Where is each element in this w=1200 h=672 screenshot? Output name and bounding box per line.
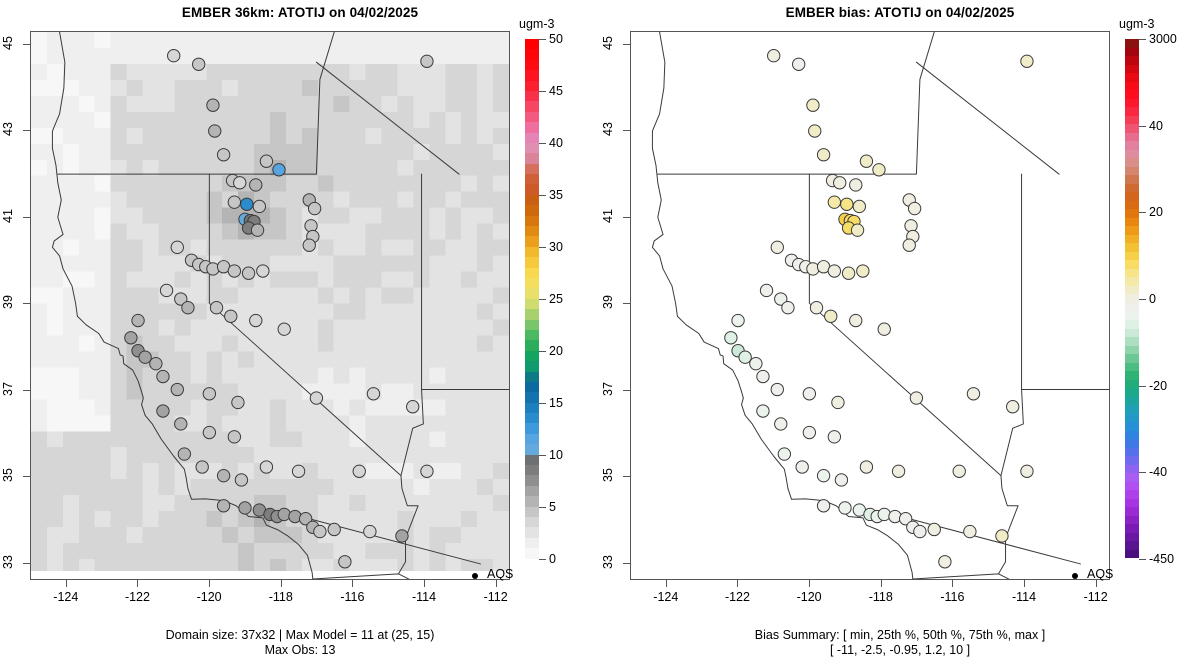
aqs-site-marker[interactable] bbox=[396, 530, 408, 542]
x-axis-tick bbox=[496, 580, 497, 587]
aqs-site-marker[interactable] bbox=[834, 177, 846, 189]
colorbar-tick bbox=[1139, 299, 1146, 300]
aqs-site-marker[interactable] bbox=[257, 265, 269, 277]
colorbar-tick-label: 40 bbox=[549, 136, 563, 150]
y-axis-tick-label: 35 bbox=[601, 463, 615, 487]
y-axis-tick bbox=[23, 563, 30, 564]
colorbar-tick bbox=[1139, 126, 1146, 127]
aqs-site-marker[interactable] bbox=[768, 50, 780, 62]
colorbar-gradient bbox=[1125, 39, 1139, 559]
aqs-site-marker[interactable] bbox=[310, 392, 322, 404]
colorbar-tick bbox=[539, 91, 546, 92]
aqs-site-marker[interactable] bbox=[953, 465, 965, 477]
aqs-site-marker[interactable] bbox=[407, 401, 419, 413]
y-axis-tick bbox=[23, 217, 30, 218]
aqs-site-marker[interactable] bbox=[178, 448, 190, 460]
x-axis-tick-label: -122 bbox=[125, 590, 150, 604]
aqs-site-marker[interactable] bbox=[841, 198, 853, 210]
aqs-site-marker[interactable] bbox=[228, 431, 240, 443]
aqs-site-marker[interactable] bbox=[914, 525, 926, 537]
aqs-site-marker[interactable] bbox=[757, 405, 769, 417]
aqs-site-marker[interactable] bbox=[160, 284, 172, 296]
aqs-site-marker[interactable] bbox=[193, 58, 205, 70]
colorbar-tick-label: 25 bbox=[549, 292, 563, 306]
colorbar-tick-label: 20 bbox=[549, 344, 563, 358]
aqs-site-marker[interactable] bbox=[210, 302, 222, 314]
x-axis-tick bbox=[137, 580, 138, 587]
aqs-site-marker[interactable] bbox=[809, 125, 821, 137]
y-axis-tick-label: 33 bbox=[1, 550, 15, 574]
y-axis-tick bbox=[23, 476, 30, 477]
aqs-site-marker[interactable] bbox=[850, 179, 862, 191]
aqs-site-marker[interactable] bbox=[739, 351, 751, 363]
x-axis-tick bbox=[737, 580, 738, 587]
aqs-site-marker[interactable] bbox=[750, 358, 762, 370]
x-axis-tick bbox=[809, 580, 810, 587]
x-axis-tick-label: -122 bbox=[725, 590, 750, 604]
aqs-site-marker[interactable] bbox=[278, 508, 290, 520]
x-axis-tick bbox=[424, 580, 425, 587]
y-axis-tick bbox=[623, 303, 630, 304]
aqs-site-marker[interactable] bbox=[778, 448, 790, 460]
aqs-site-marker[interactable] bbox=[905, 220, 917, 232]
colorbar-tick bbox=[539, 299, 546, 300]
colorbar-tick bbox=[539, 559, 546, 560]
y-axis-tick bbox=[23, 390, 30, 391]
x-axis-tick bbox=[281, 580, 282, 587]
aqs-site-marker[interactable] bbox=[228, 196, 240, 208]
aqs-site-marker[interactable] bbox=[235, 474, 247, 486]
aqs-site-marker[interactable] bbox=[810, 302, 822, 314]
colorbar-tick-label: 30 bbox=[549, 240, 563, 254]
aqs-site-marker[interactable] bbox=[305, 220, 317, 232]
x-axis-tick-label: -120 bbox=[797, 590, 822, 604]
aqs-site-marker[interactable] bbox=[175, 418, 187, 430]
aqs-site-marker[interactable] bbox=[782, 302, 794, 314]
aqs-site-marker[interactable] bbox=[250, 314, 262, 326]
aqs-legend-right: AQS bbox=[1087, 567, 1113, 581]
y-axis-tick bbox=[23, 44, 30, 45]
colorbar-right-unit-label: ugm-3 bbox=[1119, 17, 1154, 31]
y-axis-tick bbox=[623, 390, 630, 391]
panel-bias: EMBER bias: ATOTIJ on 04/02/2025 AQS Bia… bbox=[600, 0, 1200, 672]
colorbar-gradient bbox=[525, 39, 539, 559]
aqs-site-marker[interactable] bbox=[757, 370, 769, 382]
aqs-site-marker[interactable] bbox=[225, 310, 237, 322]
aqs-site-marker[interactable] bbox=[908, 202, 920, 214]
aqs-site-marker[interactable] bbox=[292, 465, 304, 477]
x-axis-tick bbox=[66, 580, 67, 587]
aqs-site-marker[interactable] bbox=[339, 556, 351, 568]
colorbar-tick-label: 50 bbox=[549, 32, 563, 46]
aqs-site-marker[interactable] bbox=[860, 155, 872, 167]
aqs-site-marker[interactable] bbox=[817, 470, 829, 482]
aqs-site-marker[interactable] bbox=[182, 302, 194, 314]
aqs-site-marker[interactable] bbox=[239, 502, 251, 514]
y-axis-tick bbox=[23, 303, 30, 304]
aqs-marker-icon bbox=[472, 573, 478, 579]
colorbar-tick bbox=[1139, 472, 1146, 473]
x-axis-tick bbox=[1096, 580, 1097, 587]
aqs-site-marker[interactable] bbox=[1007, 401, 1019, 413]
aqs-site-marker[interactable] bbox=[1021, 55, 1033, 67]
aqs-site-marker[interactable] bbox=[207, 263, 219, 275]
aqs-site-marker[interactable] bbox=[775, 418, 787, 430]
colorbar-left-unit-label: ugm-3 bbox=[519, 17, 554, 31]
aqs-site-marker[interactable] bbox=[967, 388, 979, 400]
aqs-site-marker[interactable] bbox=[850, 314, 862, 326]
y-axis-tick-label: 41 bbox=[1, 204, 15, 228]
colorbar-tick-label: 0 bbox=[1149, 292, 1156, 306]
aqs-site-marker[interactable] bbox=[364, 525, 376, 537]
aqs-site-marker[interactable] bbox=[832, 396, 844, 408]
aqs-site-marker[interactable] bbox=[132, 314, 144, 326]
map-plot-bias bbox=[630, 31, 1110, 580]
y-axis-tick-label: 39 bbox=[1, 290, 15, 314]
y-axis-tick bbox=[623, 476, 630, 477]
aqs-site-marker[interactable] bbox=[150, 358, 162, 370]
x-axis-tick-label: -124 bbox=[53, 590, 78, 604]
aqs-site-marker[interactable] bbox=[939, 556, 951, 568]
aqs-site-marker[interactable] bbox=[828, 265, 840, 277]
aqs-site-marker[interactable] bbox=[171, 383, 183, 395]
aqs-site-marker[interactable] bbox=[251, 224, 263, 236]
y-axis-tick bbox=[23, 130, 30, 131]
y-axis-tick-label: 43 bbox=[601, 117, 615, 141]
colorbar-tick bbox=[539, 455, 546, 456]
y-axis-tick-label: 41 bbox=[601, 204, 615, 228]
aqs-site-marker[interactable] bbox=[203, 388, 215, 400]
aqs-site-marker[interactable] bbox=[209, 125, 221, 137]
aqs-site-marker[interactable] bbox=[328, 523, 340, 535]
panel-right-title: EMBER bias: ATOTIJ on 04/02/2025 bbox=[600, 5, 1200, 20]
aqs-site-marker[interactable] bbox=[171, 241, 183, 253]
y-axis-tick-label: 39 bbox=[601, 290, 615, 314]
y-axis-tick bbox=[623, 563, 630, 564]
x-axis-tick-label: -112 bbox=[1084, 590, 1108, 604]
colorbar-tick bbox=[1139, 386, 1146, 387]
colorbar-tick bbox=[539, 143, 546, 144]
y-axis-tick bbox=[623, 217, 630, 218]
aqs-site-marker[interactable] bbox=[828, 196, 840, 208]
aqs-site-marker[interactable] bbox=[308, 202, 320, 214]
aqs-site-marker[interactable] bbox=[367, 388, 379, 400]
aqs-site-marker[interactable] bbox=[157, 405, 169, 417]
aqs-site-marker[interactable] bbox=[889, 510, 901, 522]
aqs-site-marker[interactable] bbox=[803, 426, 815, 438]
aqs-legend-label: AQS bbox=[1087, 567, 1113, 581]
y-axis-tick-label: 45 bbox=[601, 31, 615, 55]
colorbar-tick bbox=[539, 507, 546, 508]
aqs-site-marker[interactable] bbox=[807, 263, 819, 275]
colorbar-tick-label: 10 bbox=[549, 448, 563, 462]
aqs-site-marker[interactable] bbox=[253, 200, 265, 212]
aqs-site-marker[interactable] bbox=[421, 465, 433, 477]
aqs-site-marker[interactable] bbox=[817, 500, 829, 512]
aqs-site-marker[interactable] bbox=[793, 58, 805, 70]
x-axis-tick-label: -114 bbox=[412, 590, 436, 604]
aqs-site-marker[interactable] bbox=[839, 502, 851, 514]
aqs-site-marker[interactable] bbox=[157, 370, 169, 382]
x-axis-tick-label: -118 bbox=[269, 590, 293, 604]
aqs-site-marker[interactable] bbox=[851, 224, 863, 236]
colorbar-tick bbox=[1139, 212, 1146, 213]
x-axis-tick-label: -114 bbox=[1012, 590, 1036, 604]
aqs-site-marker[interactable] bbox=[273, 164, 285, 176]
aqs-site-marker[interactable] bbox=[825, 310, 837, 322]
aqs-site-marker[interactable] bbox=[853, 200, 865, 212]
left-caption-line-1: Domain size: 37x32 | Max Model = 11 at (… bbox=[0, 628, 600, 643]
y-axis-tick-label: 35 bbox=[1, 463, 15, 487]
aqs-site-marker[interactable] bbox=[878, 323, 890, 335]
x-axis-tick bbox=[952, 580, 953, 587]
x-axis-tick-label: -118 bbox=[869, 590, 893, 604]
aqs-site-marker[interactable] bbox=[732, 314, 744, 326]
figure-root: EMBER 36km: ATOTIJ on 04/02/2025 AQS Dom… bbox=[0, 0, 1200, 672]
colorbar-tick-label: -20 bbox=[1149, 379, 1167, 393]
aqs-site-marker[interactable] bbox=[139, 351, 151, 363]
colorbar-tick-label: -40 bbox=[1149, 465, 1167, 479]
y-axis-tick-label: 45 bbox=[1, 31, 15, 55]
aqs-site-marker[interactable] bbox=[725, 332, 737, 344]
aqs-site-marker[interactable] bbox=[196, 461, 208, 473]
right-caption-line-2: [ -11, -2.5, -0.95, 1.2, 10 ] bbox=[600, 643, 1200, 658]
colorbar-tick bbox=[539, 403, 546, 404]
x-axis-tick bbox=[881, 580, 882, 587]
aqs-site-marker[interactable] bbox=[873, 164, 885, 176]
colorbar-tick-label: 3000 bbox=[1149, 32, 1177, 46]
aqs-observation-points[interactable] bbox=[31, 32, 509, 579]
aqs-site-marker[interactable] bbox=[842, 267, 854, 279]
aqs-site-marker[interactable] bbox=[828, 431, 840, 443]
x-axis-tick bbox=[352, 580, 353, 587]
y-axis-tick-label: 37 bbox=[601, 377, 615, 401]
x-axis-tick-label: -124 bbox=[653, 590, 678, 604]
colorbar-tick bbox=[539, 247, 546, 248]
colorbar-tick-label: 15 bbox=[549, 396, 563, 410]
bias-points[interactable] bbox=[631, 32, 1109, 579]
map-plot-model bbox=[30, 31, 510, 580]
aqs-site-marker[interactable] bbox=[168, 50, 180, 62]
aqs-site-marker[interactable] bbox=[353, 465, 365, 477]
aqs-site-marker[interactable] bbox=[771, 383, 783, 395]
aqs-site-marker[interactable] bbox=[242, 267, 254, 279]
aqs-site-marker[interactable] bbox=[928, 523, 940, 535]
colorbar-tick-label: 35 bbox=[549, 188, 563, 202]
panel-model: EMBER 36km: ATOTIJ on 04/02/2025 AQS Dom… bbox=[0, 0, 600, 672]
colorbar-tick-label: 5 bbox=[549, 500, 556, 514]
aqs-site-marker[interactable] bbox=[232, 396, 244, 408]
panel-left-title: EMBER 36km: ATOTIJ on 04/02/2025 bbox=[0, 5, 600, 20]
x-axis-tick bbox=[209, 580, 210, 587]
aqs-site-marker[interactable] bbox=[250, 179, 262, 191]
colorbar-tick-label: 20 bbox=[1149, 205, 1163, 219]
aqs-site-marker[interactable] bbox=[1021, 465, 1033, 477]
aqs-site-marker[interactable] bbox=[857, 265, 869, 277]
aqs-site-marker[interactable] bbox=[228, 265, 240, 277]
colorbar-tick bbox=[1139, 39, 1146, 40]
colorbar-tick-label: -450 bbox=[1149, 552, 1174, 566]
aqs-site-marker[interactable] bbox=[314, 525, 326, 537]
left-caption-line-2: Max Obs: 13 bbox=[0, 643, 600, 658]
aqs-site-marker[interactable] bbox=[807, 99, 819, 111]
aqs-site-marker[interactable] bbox=[903, 239, 915, 251]
colorbar-tick-label: 0 bbox=[549, 552, 556, 566]
x-axis-tick-label: -112 bbox=[484, 590, 508, 604]
aqs-site-marker[interactable] bbox=[278, 323, 290, 335]
x-axis-tick-label: -116 bbox=[940, 590, 964, 604]
y-axis-tick-label: 43 bbox=[1, 117, 15, 141]
colorbar-tick bbox=[539, 39, 546, 40]
colorbar-tick bbox=[539, 195, 546, 196]
aqs-site-marker[interactable] bbox=[207, 99, 219, 111]
aqs-site-marker[interactable] bbox=[892, 465, 904, 477]
colorbar-tick bbox=[539, 351, 546, 352]
aqs-site-marker[interactable] bbox=[878, 508, 890, 520]
colorbar-tick bbox=[1139, 559, 1146, 560]
aqs-site-marker[interactable] bbox=[910, 392, 922, 404]
aqs-marker-icon bbox=[1072, 573, 1078, 579]
x-axis-tick-label: -120 bbox=[197, 590, 222, 604]
aqs-legend-left: AQS bbox=[487, 567, 513, 581]
aqs-site-marker[interactable] bbox=[234, 177, 246, 189]
aqs-site-marker[interactable] bbox=[796, 461, 808, 473]
x-axis-tick bbox=[1024, 580, 1025, 587]
aqs-site-marker[interactable] bbox=[964, 525, 976, 537]
aqs-site-marker[interactable] bbox=[760, 284, 772, 296]
aqs-site-marker[interactable] bbox=[303, 239, 315, 251]
aqs-legend-label: AQS bbox=[487, 567, 513, 581]
aqs-site-marker[interactable] bbox=[835, 474, 847, 486]
aqs-site-marker[interactable] bbox=[260, 461, 272, 473]
x-axis-tick bbox=[666, 580, 667, 587]
aqs-site-marker[interactable] bbox=[771, 241, 783, 253]
colorbar-tick-label: 40 bbox=[1149, 119, 1163, 133]
aqs-site-marker[interactable] bbox=[217, 470, 229, 482]
y-axis-tick bbox=[623, 130, 630, 131]
aqs-site-marker[interactable] bbox=[996, 530, 1008, 542]
aqs-site-marker[interactable] bbox=[125, 332, 137, 344]
aqs-site-marker[interactable] bbox=[217, 500, 229, 512]
y-axis-tick-label: 33 bbox=[601, 550, 615, 574]
aqs-site-marker[interactable] bbox=[260, 155, 272, 167]
aqs-site-marker[interactable] bbox=[421, 55, 433, 67]
colorbar-tick-label: 45 bbox=[549, 84, 563, 98]
aqs-site-marker[interactable] bbox=[203, 426, 215, 438]
y-axis-tick-label: 37 bbox=[1, 377, 15, 401]
x-axis-tick-label: -116 bbox=[340, 590, 364, 604]
aqs-site-marker[interactable] bbox=[803, 388, 815, 400]
aqs-site-marker[interactable] bbox=[217, 149, 229, 161]
aqs-site-marker[interactable] bbox=[860, 461, 872, 473]
right-caption-line-1: Bias Summary: [ min, 25th %, 50th %, 75t… bbox=[600, 628, 1200, 643]
aqs-site-marker[interactable] bbox=[817, 149, 829, 161]
aqs-site-marker[interactable] bbox=[289, 510, 301, 522]
aqs-site-marker[interactable] bbox=[241, 198, 253, 210]
y-axis-tick bbox=[623, 44, 630, 45]
